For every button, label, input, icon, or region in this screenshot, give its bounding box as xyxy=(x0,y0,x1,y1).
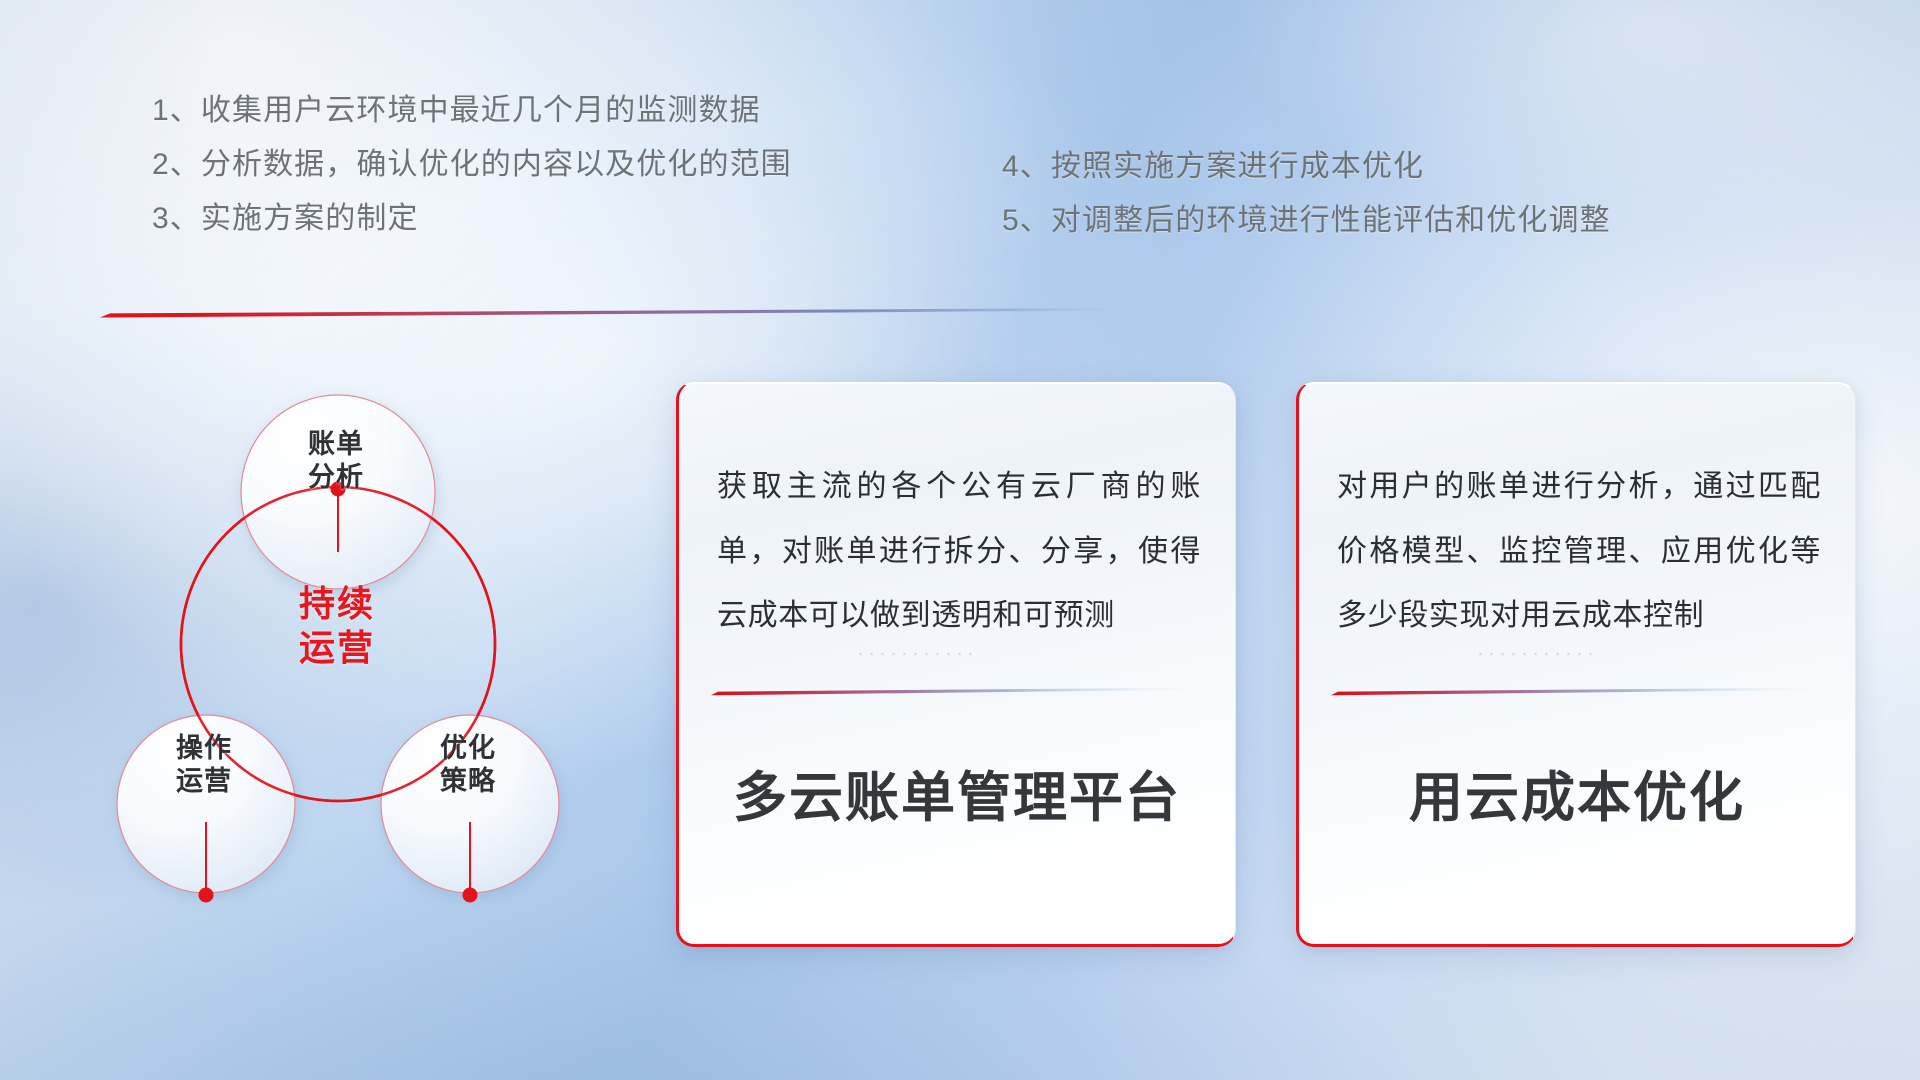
card-title: 多云账单管理平台 xyxy=(679,753,1235,832)
diagram-node-dot-right xyxy=(463,888,478,903)
step-item-1: 1、收集用户云环境中最近几个月的监测数据 xyxy=(152,96,792,126)
diagram-center-label: 持续 运营 xyxy=(262,582,412,670)
steps-left-column: 1、收集用户云环境中最近几个月的监测数据 2、分析数据，确认优化的内容以及优化的… xyxy=(152,96,792,234)
feature-cards: 获取主流的各个公有云厂商的账单，对账单进行拆分、分享，使得云成本可以做到透明和可… xyxy=(676,382,1856,952)
step-item-2: 2、分析数据，确认优化的内容以及优化的范围 xyxy=(152,150,792,180)
card-body-text: 获取主流的各个公有云厂商的账单，对账单进行拆分、分享，使得云成本可以做到透明和可… xyxy=(717,455,1201,649)
card-title: 用云成本优化 xyxy=(1299,753,1855,832)
diagram-node-label-bill-analysis: 账单 分析 xyxy=(256,428,416,494)
diagram-node-label-optimization-strategy: 优化 策略 xyxy=(388,732,548,798)
card-cloud-cost-optimization[interactable]: 对用户的账单进行分析，通过匹配价格模型、监控管理、应用优化等多少段实现对用云成本… xyxy=(1296,382,1856,947)
continuous-operations-diagram: 账单 分析 操作 运营 优化 策略 持续 运营 xyxy=(88,352,628,932)
diagram-node-label-operations: 操作 运营 xyxy=(124,732,284,798)
card-dotted-accent xyxy=(1475,651,1595,657)
step-item-3: 3、实施方案的制定 xyxy=(152,204,792,234)
diagram-node-dot-left xyxy=(199,888,214,903)
card-dotted-accent xyxy=(855,651,975,657)
card-body-text: 对用户的账单进行分析，通过匹配价格模型、监控管理、应用优化等多少段实现对用云成本… xyxy=(1337,455,1821,649)
card-divider xyxy=(1331,683,1811,692)
section-divider xyxy=(100,305,1130,316)
step-item-4: 4、按照实施方案进行成本优化 xyxy=(1002,152,1611,182)
card-divider xyxy=(711,683,1191,692)
card-multi-cloud-billing-platform[interactable]: 获取主流的各个公有云厂商的账单，对账单进行拆分、分享，使得云成本可以做到透明和可… xyxy=(676,382,1236,947)
step-item-5: 5、对调整后的环境进行性能评估和优化调整 xyxy=(1002,206,1611,236)
steps-list-region: 1、收集用户云环境中最近几个月的监测数据 2、分析数据，确认优化的内容以及优化的… xyxy=(0,0,1920,300)
steps-right-column: 4、按照实施方案进行成本优化 5、对调整后的环境进行性能评估和优化调整 xyxy=(1002,152,1611,236)
